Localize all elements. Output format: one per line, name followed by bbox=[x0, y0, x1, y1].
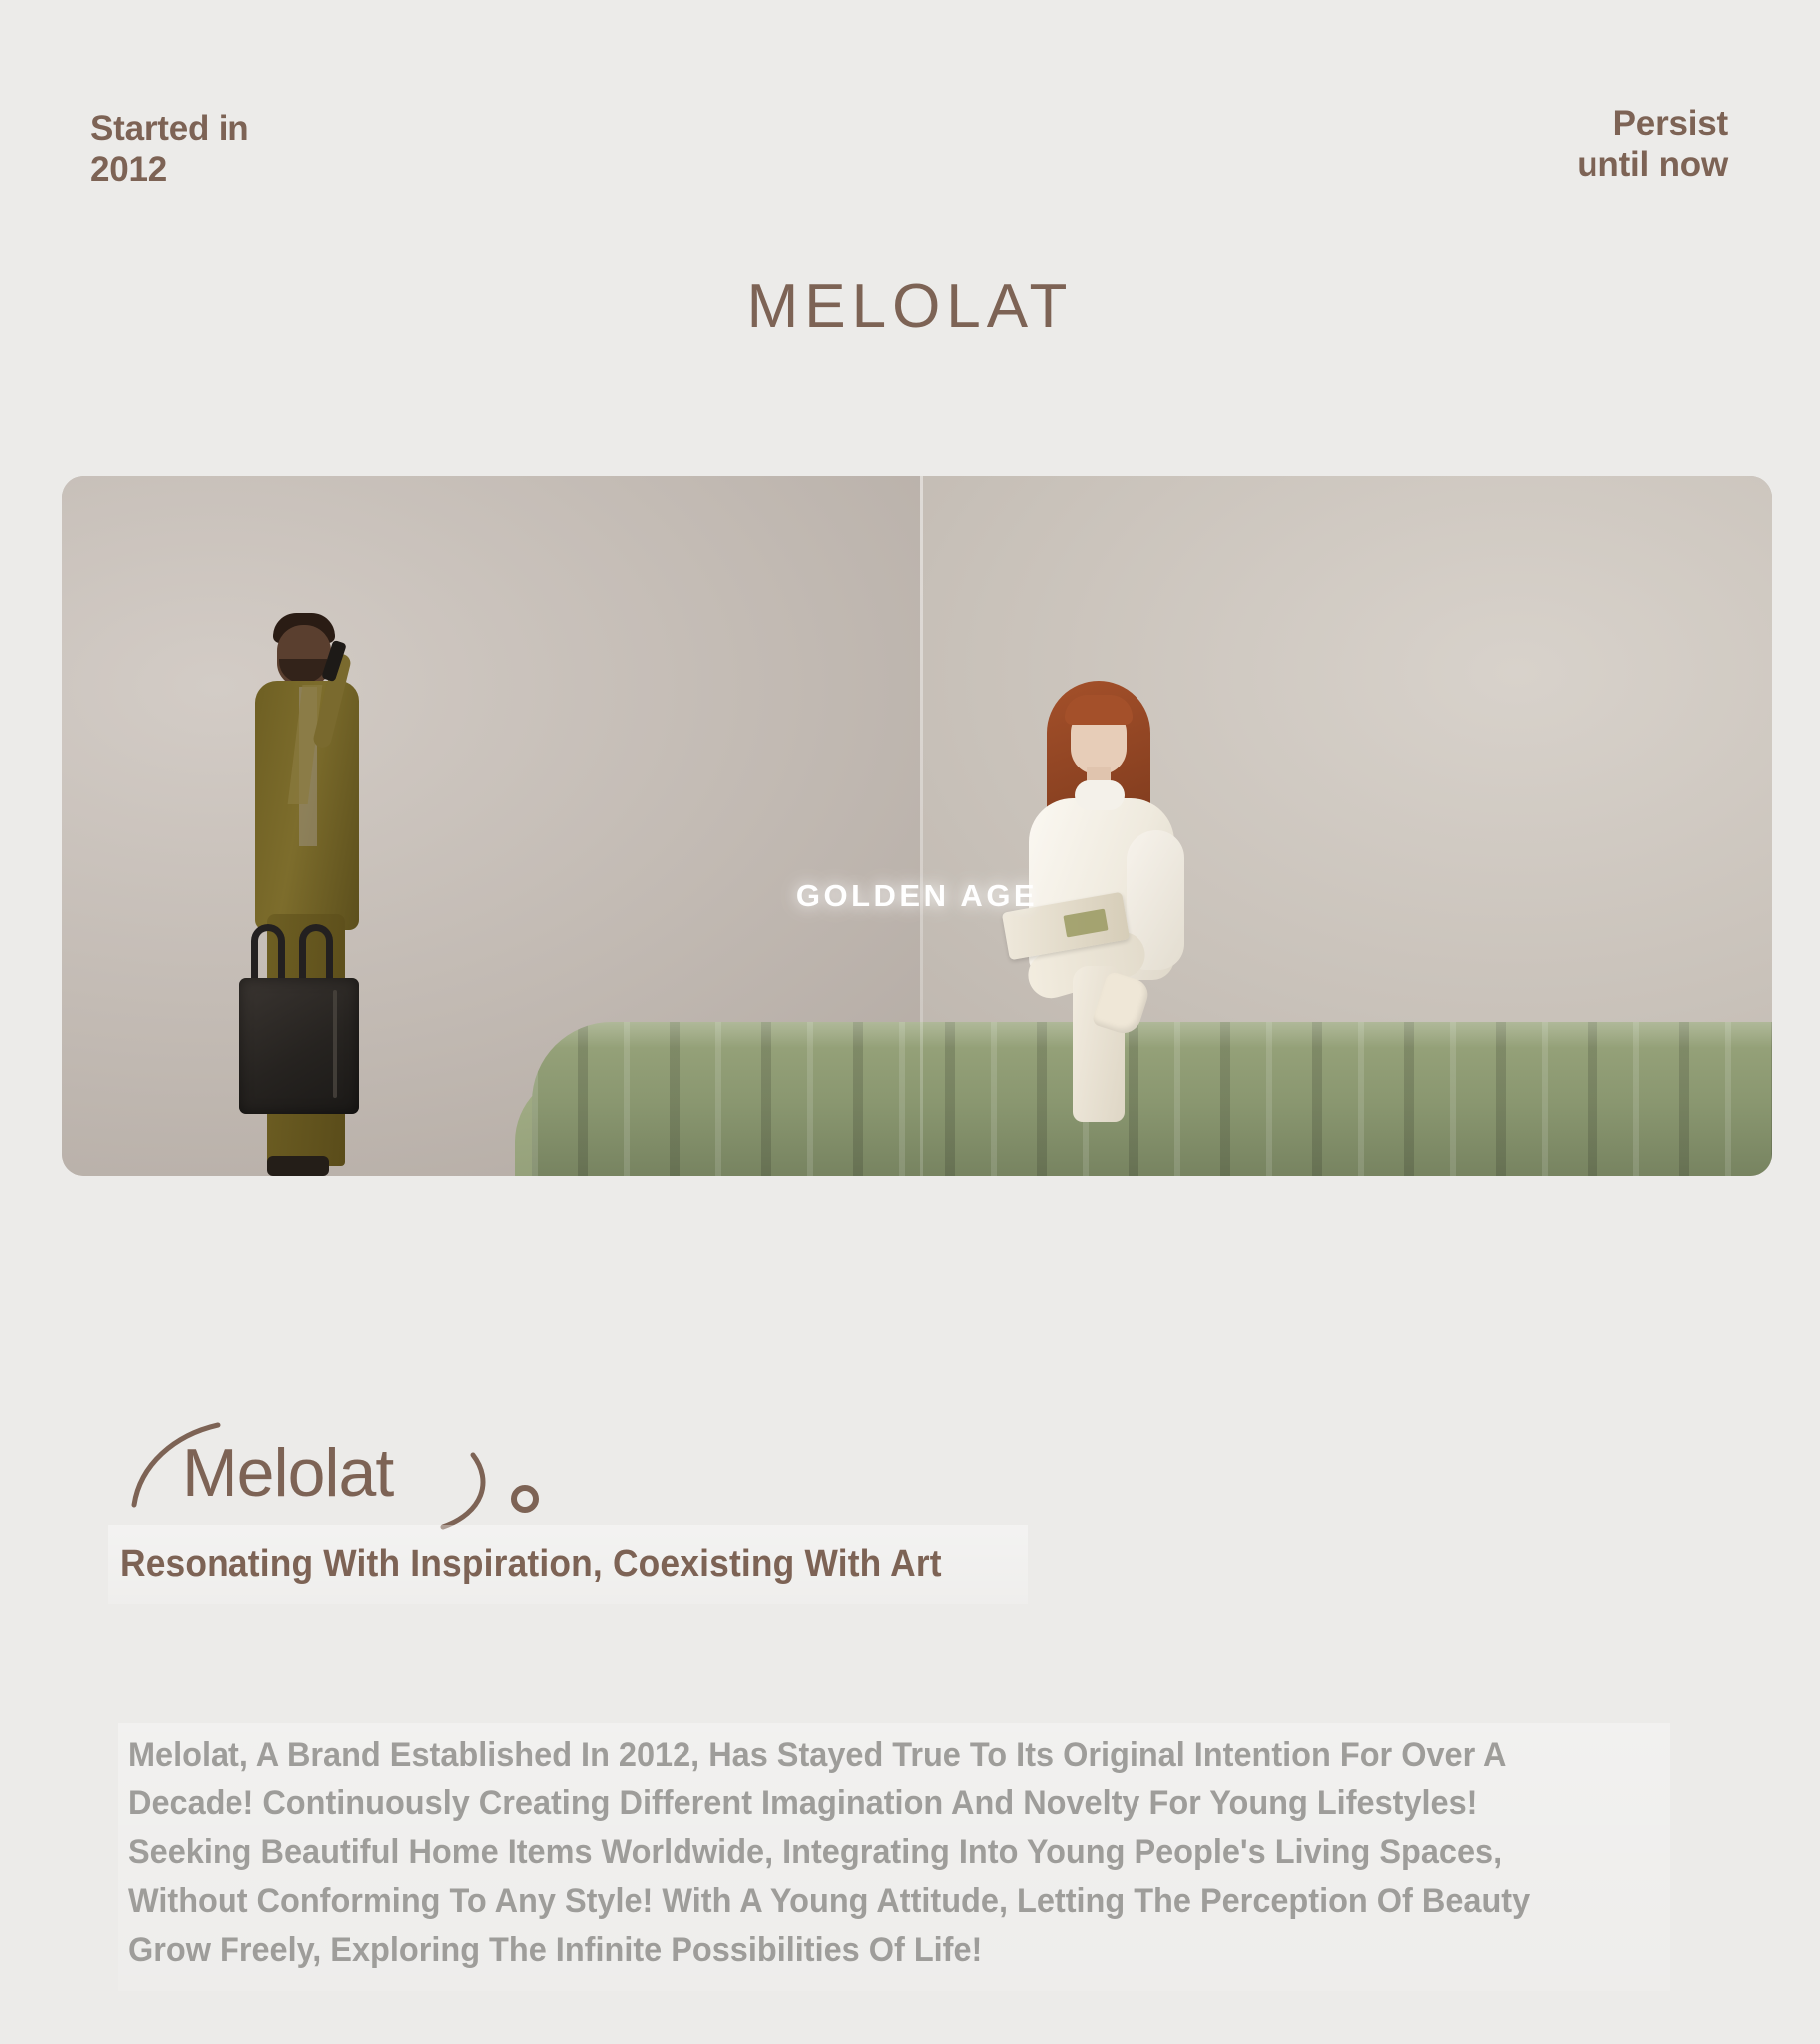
brand-tagline: Resonating With Inspiration, Coexisting … bbox=[120, 1543, 942, 1586]
brand-logo-text: Melolat bbox=[182, 1439, 393, 1507]
logo-dot-icon bbox=[514, 1488, 536, 1510]
brand-tagline-block: Resonating With Inspiration, Coexisting … bbox=[108, 1525, 1028, 1604]
hero-video-banner[interactable]: GOLDEN AGE bbox=[62, 476, 1772, 1176]
man-with-briefcase-figure bbox=[237, 607, 377, 1176]
brand-description: Melolat, A Brand Established In 2012, Ha… bbox=[128, 1731, 1592, 1975]
pane-divider bbox=[920, 476, 923, 1176]
brand-wordmark: MELOLAT bbox=[0, 271, 1820, 342]
meta-started-in: Started in 2012 bbox=[90, 108, 248, 191]
brand-description-block: Melolat, A Brand Established In 2012, Ha… bbox=[118, 1723, 1670, 1991]
woman-reading-figure bbox=[1003, 681, 1192, 1120]
meta-persist-until-now: Persist until now bbox=[1577, 103, 1728, 186]
brand-story-page: Started in 2012 Persist until now MELOLA… bbox=[0, 0, 1820, 2044]
briefcase-product bbox=[239, 978, 359, 1114]
